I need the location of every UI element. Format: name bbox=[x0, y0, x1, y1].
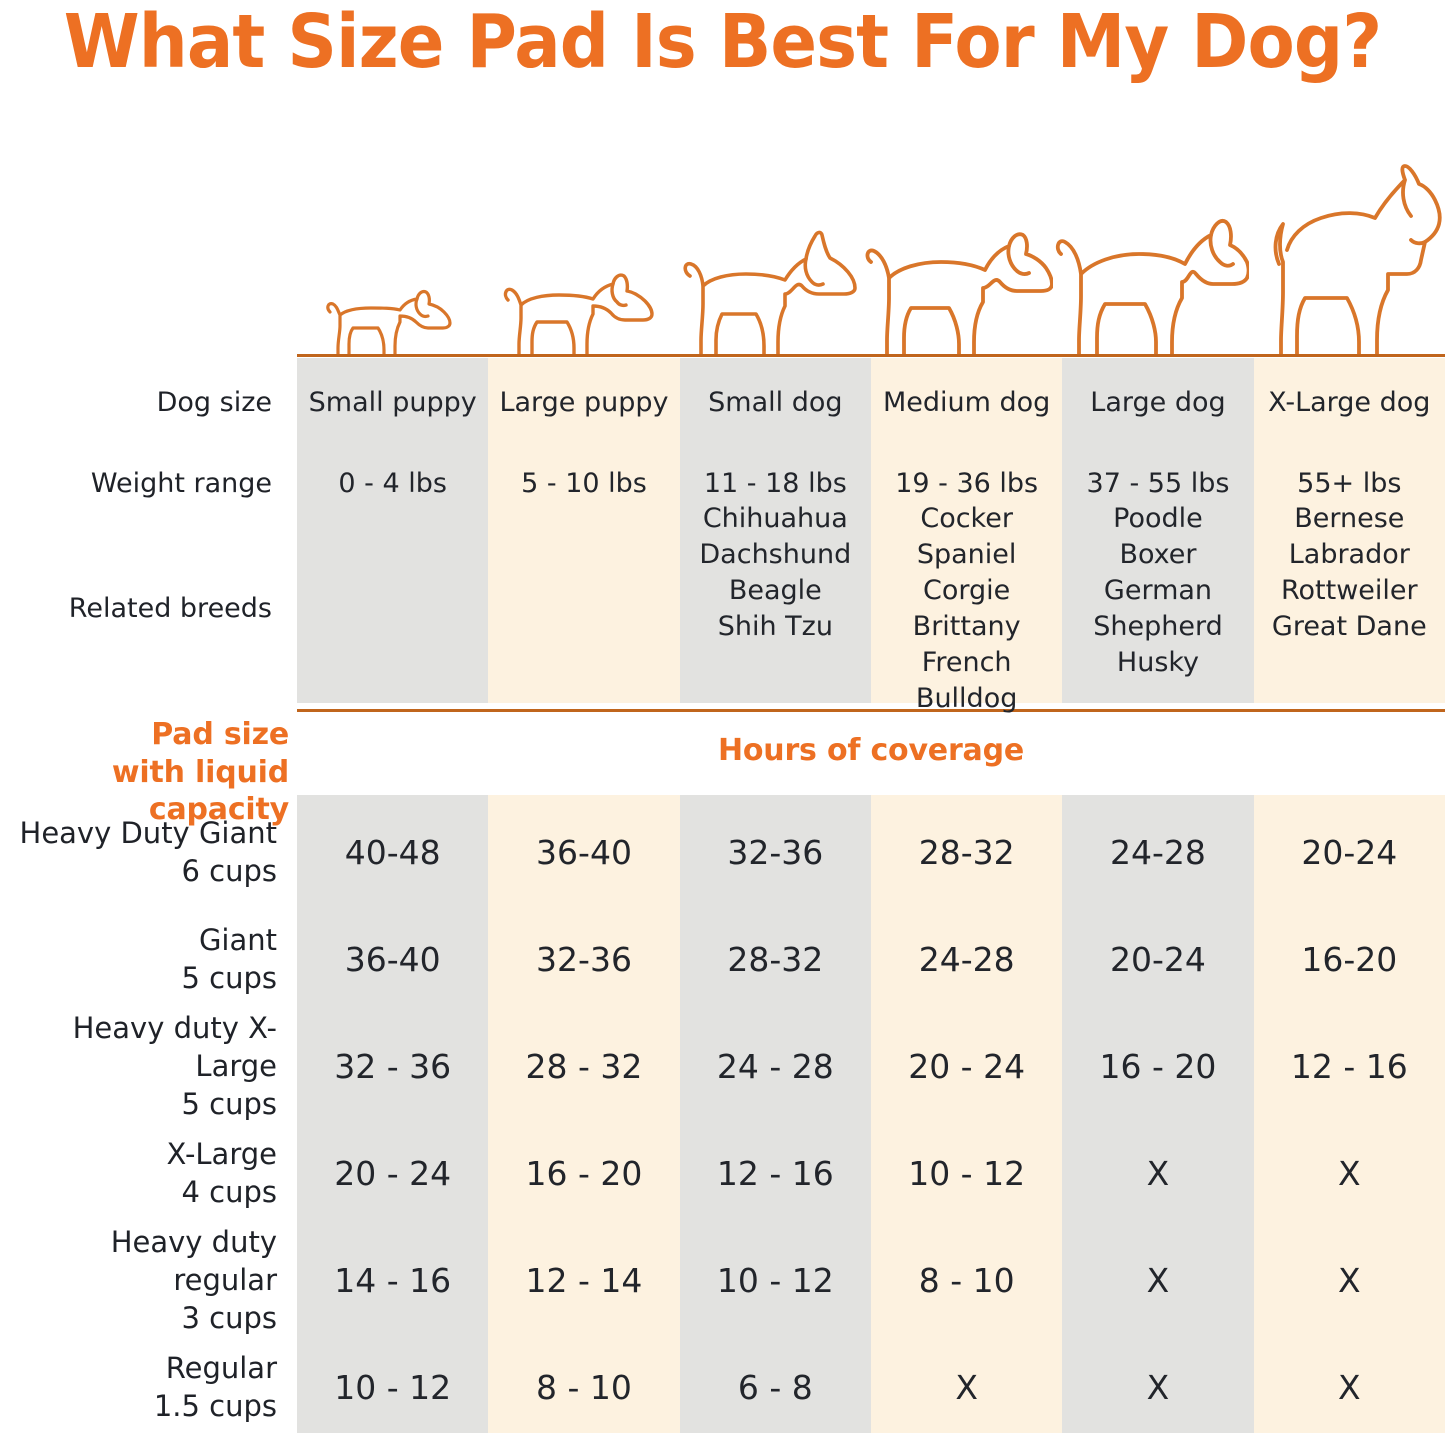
table-row-heavy-duty-giant: Heavy Duty Giant6 cups 40-48 36-40 32-36… bbox=[0, 800, 1445, 906]
cell-weight-small-puppy: 0 - 4 lbs bbox=[297, 466, 488, 502]
cell-giant-small-dog: 28-32 bbox=[680, 938, 871, 982]
cell-dog-size-x-large-dog: X-Large dog bbox=[1254, 385, 1445, 421]
cell-reg-x-large-dog: X bbox=[1254, 1366, 1445, 1410]
cell-breeds-small-dog: Chihuahua Dachshund Beagle Shih Tzu bbox=[680, 501, 871, 716]
pad-capacity-regular: 1.5 cups bbox=[154, 1389, 277, 1423]
dog-silhouette-large-puppy-icon bbox=[495, 248, 663, 356]
pad-name-heavy-duty-giant: Heavy Duty Giant bbox=[20, 816, 277, 850]
table-row-regular: Regular1.5 cups 10 - 12 8 - 10 6 - 8 X X… bbox=[0, 1335, 1445, 1441]
cell-weight-medium-dog: 19 - 36 lbs bbox=[871, 466, 1062, 502]
cell-giant-medium-dog: 24-28 bbox=[871, 938, 1062, 982]
row-label-giant: Giant5 cups bbox=[0, 922, 297, 997]
row-cells-heavy-duty-x-large: 32 - 36 28 - 32 24 - 28 20 - 24 16 - 20 … bbox=[297, 1045, 1445, 1089]
cell-hdgiant-small-puppy: 40-48 bbox=[297, 831, 488, 875]
cell-xl-medium-dog: 10 - 12 bbox=[871, 1152, 1062, 1196]
row-label-heavy-duty-regular: Heavy duty regular3 cups bbox=[0, 1224, 297, 1337]
table-row-dog-size: Dog size Small puppy Large puppy Small d… bbox=[0, 378, 1445, 428]
cell-hdxl-small-puppy: 32 - 36 bbox=[297, 1045, 488, 1089]
dog-silhouette-small-puppy-icon bbox=[316, 266, 466, 356]
row-label-heavy-duty-x-large: Heavy duty X-Large5 cups bbox=[0, 1010, 297, 1123]
cell-reg-large-puppy: 8 - 10 bbox=[488, 1366, 679, 1410]
cell-giant-large-dog: 20-24 bbox=[1062, 938, 1253, 982]
cell-breeds-medium-dog: Cocker Spaniel Corgie Brittany French Bu… bbox=[871, 501, 1062, 716]
cell-weight-x-large-dog: 55+ lbs bbox=[1254, 466, 1445, 502]
cell-xl-small-puppy: 20 - 24 bbox=[297, 1152, 488, 1196]
cell-breeds-small-puppy bbox=[297, 501, 488, 716]
cell-dog-size-small-dog: Small dog bbox=[680, 385, 871, 421]
cell-hdxl-medium-dog: 20 - 24 bbox=[871, 1045, 1062, 1089]
table-row-weight-range: Weight range 0 - 4 lbs 5 - 10 lbs 11 - 1… bbox=[0, 461, 1445, 507]
pad-name-heavy-duty-x-large: Heavy duty X-Large bbox=[73, 1011, 277, 1083]
pad-name-giant: Giant bbox=[199, 923, 277, 957]
row-cells-heavy-duty-giant: 40-48 36-40 32-36 28-32 24-28 20-24 bbox=[297, 831, 1445, 875]
ground-line-rule bbox=[297, 354, 1445, 357]
cell-weight-large-dog: 37 - 55 lbs bbox=[1062, 466, 1253, 502]
row-cells-regular: 10 - 12 8 - 10 6 - 8 X X X bbox=[297, 1366, 1445, 1410]
row-cells-heavy-duty-regular: 14 - 16 12 - 14 10 - 12 8 - 10 X X bbox=[297, 1259, 1445, 1303]
cell-reg-medium-dog: X bbox=[871, 1366, 1062, 1410]
cell-hdreg-large-dog: X bbox=[1062, 1259, 1253, 1303]
row-label-heavy-duty-giant: Heavy Duty Giant6 cups bbox=[0, 815, 297, 890]
cell-dog-size-large-puppy: Large puppy bbox=[488, 385, 679, 421]
cell-breeds-x-large-dog: Bernese Labrador Rottweiler Great Dane bbox=[1254, 501, 1445, 716]
cell-reg-small-dog: 6 - 8 bbox=[680, 1366, 871, 1410]
row-cells-weight-range: 0 - 4 lbs 5 - 10 lbs 11 - 18 lbs 19 - 36… bbox=[297, 466, 1445, 502]
cell-hdxl-x-large-dog: 12 - 16 bbox=[1254, 1045, 1445, 1089]
cell-hdgiant-medium-dog: 28-32 bbox=[871, 831, 1062, 875]
cell-giant-x-large-dog: 16-20 bbox=[1254, 938, 1445, 982]
pad-capacity-heavy-duty-giant: 6 cups bbox=[181, 854, 277, 888]
page-title: What Size Pad Is Best For My Dog? bbox=[51, 4, 1395, 82]
pad-capacity-giant: 5 cups bbox=[181, 961, 277, 995]
row-label-x-large: X-Large4 cups bbox=[0, 1136, 297, 1211]
table-row-related-breeds: Related breeds Chihuahua Dachshund Beagl… bbox=[0, 529, 1445, 689]
cell-hdreg-x-large-dog: X bbox=[1254, 1259, 1445, 1303]
cell-breeds-large-dog: Poodle Boxer German Shepherd Husky bbox=[1062, 501, 1253, 716]
dog-cell-large-dog bbox=[1053, 160, 1249, 356]
cell-xl-small-dog: 12 - 16 bbox=[680, 1152, 871, 1196]
cell-hdgiant-large-dog: 24-28 bbox=[1062, 831, 1253, 875]
cell-hdxl-large-dog: 16 - 20 bbox=[1062, 1045, 1253, 1089]
cell-dog-size-small-puppy: Small puppy bbox=[297, 385, 488, 421]
table-row-heavy-duty-x-large: Heavy duty X-Large5 cups 32 - 36 28 - 32… bbox=[0, 1014, 1445, 1120]
cell-giant-large-puppy: 32-36 bbox=[488, 938, 679, 982]
cell-hdreg-small-dog: 10 - 12 bbox=[680, 1259, 871, 1303]
pad-name-x-large: X-Large bbox=[167, 1137, 277, 1171]
row-label-related-breeds: Related breeds bbox=[0, 591, 297, 626]
pad-capacity-heavy-duty-x-large: 5 cups bbox=[181, 1087, 277, 1121]
table-row-x-large: X-Large4 cups 20 - 24 16 - 20 12 - 16 10… bbox=[0, 1121, 1445, 1227]
row-label-weight-range: Weight range bbox=[0, 466, 297, 502]
dog-cell-small-dog bbox=[673, 160, 861, 356]
row-cells-related-breeds: Chihuahua Dachshund Beagle Shih Tzu Cock… bbox=[297, 501, 1445, 716]
table-row-heavy-duty-regular: Heavy duty regular3 cups 14 - 16 12 - 14… bbox=[0, 1228, 1445, 1334]
dog-cell-small-puppy bbox=[297, 160, 485, 356]
dog-silhouette-medium-dog-icon bbox=[861, 216, 1053, 356]
cell-hdxl-large-puppy: 28 - 32 bbox=[488, 1045, 679, 1089]
dog-silhouette-x-large-dog-icon bbox=[1249, 164, 1445, 356]
pad-name-heavy-duty-regular: Heavy duty regular bbox=[111, 1225, 277, 1297]
dog-cell-medium-dog bbox=[861, 160, 1053, 356]
pad-name-regular: Regular bbox=[166, 1351, 277, 1385]
cell-hdgiant-large-puppy: 36-40 bbox=[488, 831, 679, 875]
dog-silhouette-small-dog-icon bbox=[676, 226, 858, 356]
cell-weight-large-puppy: 5 - 10 lbs bbox=[488, 466, 679, 502]
row-cells-x-large: 20 - 24 16 - 20 12 - 16 10 - 12 X X bbox=[297, 1152, 1445, 1196]
cell-xl-large-dog: X bbox=[1062, 1152, 1253, 1196]
table-row-giant: Giant5 cups 36-40 32-36 28-32 24-28 20-2… bbox=[0, 907, 1445, 1013]
pad-capacity-x-large: 4 cups bbox=[181, 1175, 277, 1209]
cell-hdxl-small-dog: 24 - 28 bbox=[680, 1045, 871, 1089]
cell-hdreg-large-puppy: 12 - 14 bbox=[488, 1259, 679, 1303]
row-label-regular: Regular1.5 cups bbox=[0, 1350, 297, 1425]
cell-breeds-large-puppy bbox=[488, 501, 679, 716]
cell-hdgiant-x-large-dog: 20-24 bbox=[1254, 831, 1445, 875]
cell-hdreg-small-puppy: 14 - 16 bbox=[297, 1259, 488, 1303]
cell-hdreg-medium-dog: 8 - 10 bbox=[871, 1259, 1062, 1303]
dog-silhouette-row bbox=[297, 160, 1445, 356]
cell-reg-small-puppy: 10 - 12 bbox=[297, 1366, 488, 1410]
cell-hdgiant-small-dog: 32-36 bbox=[680, 831, 871, 875]
row-label-dog-size: Dog size bbox=[0, 385, 297, 421]
cell-reg-large-dog: X bbox=[1062, 1366, 1253, 1410]
cell-dog-size-medium-dog: Medium dog bbox=[871, 385, 1062, 421]
cell-dog-size-large-dog: Large dog bbox=[1062, 385, 1253, 421]
dog-cell-x-large-dog bbox=[1249, 160, 1445, 356]
cell-xl-x-large-dog: X bbox=[1254, 1152, 1445, 1196]
hours-of-coverage-header: Hours of coverage bbox=[297, 733, 1445, 768]
dog-cell-large-puppy bbox=[485, 160, 673, 356]
pad-capacity-heavy-duty-regular: 3 cups bbox=[181, 1301, 277, 1335]
cell-xl-large-puppy: 16 - 20 bbox=[488, 1152, 679, 1196]
dog-silhouette-large-dog-icon bbox=[1053, 204, 1249, 356]
row-cells-giant: 36-40 32-36 28-32 24-28 20-24 16-20 bbox=[297, 938, 1445, 982]
cell-weight-small-dog: 11 - 18 lbs bbox=[680, 466, 871, 502]
row-cells-dog-size: Small puppy Large puppy Small dog Medium… bbox=[297, 385, 1445, 421]
cell-giant-small-puppy: 36-40 bbox=[297, 938, 488, 982]
